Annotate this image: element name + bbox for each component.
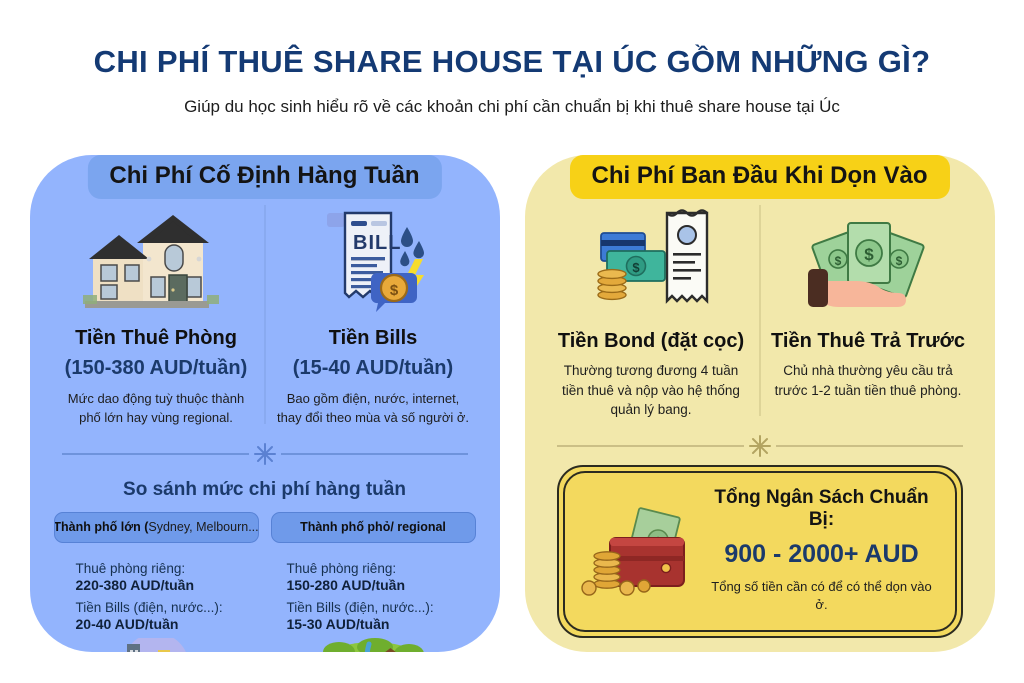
wallet-coins-icon-wrap: $ [575, 504, 707, 596]
compare-section-title: So sánh mức chi phí hàng tuần [48, 479, 482, 501]
bill-receipt-icon: BILL $ [275, 201, 472, 313]
left-item-bills: BILL $ [265, 201, 482, 428]
compare-col-big-city: Thuê phòng riêng: 220-380 AUD/tuần Tiền … [54, 554, 265, 632]
svg-text:$: $ [864, 245, 874, 264]
left-item-rent: Tiền Thuê Phòng (150-380 AUD/tuần) Mức d… [48, 201, 265, 428]
city-skyline-icon [96, 638, 216, 652]
right-sparkle-divider [557, 433, 963, 459]
left-item-bills-desc: Bao gồm điện, nước, internet, thay đổi t… [275, 390, 472, 428]
divider-line-left [557, 445, 744, 447]
budget-title: Tổng Ngân Sách Chuẩn Bị: [707, 487, 937, 531]
panel-left-body: Tiền Thuê Phòng (150-380 AUD/tuần) Mức d… [30, 155, 500, 652]
panel-left-badge: Chi Phí Cố Định Hàng Tuần [87, 155, 441, 199]
hand-cash-icon: $ $ $ [770, 201, 967, 313]
svg-text:$: $ [390, 282, 399, 299]
compare-col-regional: Thuê phòng riêng: 150-280 AUD/tuần Tiền … [265, 554, 476, 632]
pill-regional-bold: Thành phố phỏ/ regional [300, 520, 446, 534]
left-item-rent-price: (150-380 AUD/tuần) [58, 357, 255, 380]
panel-right-body: $ Tiền Bond (đặt cọc) Thường tương đương… [525, 155, 995, 652]
right-item-bond-desc: Thường tương đương 4 tuần tiền thuê và n… [553, 361, 750, 420]
rural-village-icon-wrap [265, 638, 482, 652]
panel-weekly-fixed-costs: Chi Phí Cố Định Hàng Tuần [30, 155, 500, 652]
cmp-value: 15-30 AUD/tuần [287, 616, 476, 632]
left-item-rent-title: Tiền Thuê Phòng [58, 326, 255, 350]
cmp-label: Thuê phòng riêng: [287, 561, 476, 576]
left-item-bills-title: Tiền Bills [275, 326, 472, 350]
pill-big-city-bold: Thành phố lớn ( [54, 520, 149, 534]
divider-line-right [776, 445, 963, 447]
sparkle-icon [747, 433, 773, 459]
pill-big-city[interactable]: Thành phố lớn (Sydney, Melbourn... [54, 512, 259, 543]
svg-text:BILL: BILL [353, 232, 401, 254]
cmp-label: Thuê phòng riêng: [76, 561, 265, 576]
left-item-rent-desc: Mức dao động tuỳ thuộc thành phố lớn hay… [58, 390, 255, 428]
city-skyline-icon-wrap [48, 638, 265, 652]
left-item-bills-price: (15-40 AUD/tuần) [275, 357, 472, 380]
budget-box-inner: $ [563, 471, 957, 632]
svg-text:$: $ [835, 254, 842, 268]
left-sparkle-divider [62, 441, 468, 467]
budget-note: Tổng số tiền cần có để có thể dọn vào ở. [707, 578, 937, 614]
cmp-value: 20-40 AUD/tuần [76, 616, 265, 632]
right-item-bond-title: Tiền Bond (đặt cọc) [553, 329, 750, 353]
svg-text:$: $ [632, 260, 640, 275]
right-item-bond: $ Tiền Bond (đặt cọc) Thường tương đương… [543, 201, 760, 420]
cmp-value: 220-380 AUD/tuần [76, 577, 265, 593]
budget-box: $ [557, 465, 963, 638]
cash-card-receipt-icon: $ [553, 201, 750, 313]
wallet-coins-icon: $ [580, 504, 702, 596]
panel-initial-move-in-costs: Chi Phí Ban Đầu Khi Dọn Vào [525, 155, 995, 652]
compare-values-row: Thuê phòng riêng: 220-380 AUD/tuần Tiền … [48, 554, 482, 632]
svg-text:$: $ [896, 254, 903, 268]
pill-regional[interactable]: Thành phố phỏ/ regional [271, 512, 476, 543]
right-vertical-divider [759, 205, 760, 416]
page-header: CHI PHÍ THUÊ SHARE HOUSE TẠI ÚC GỒM NHỮN… [0, 0, 1024, 117]
panel-right-badge: Chi Phí Ban Đầu Khi Dọn Vào [569, 155, 949, 199]
divider-line-left [62, 453, 249, 455]
page-subtitle: Giúp du học sinh hiểu rõ về các khoản ch… [0, 97, 1024, 117]
right-item-advance-rent: $ $ $ Tiền Thuê Trả Trước Chủ nhà thường… [760, 201, 977, 420]
left-vertical-divider [264, 205, 265, 424]
left-items-row: Tiền Thuê Phòng (150-380 AUD/tuần) Mức d… [48, 201, 482, 428]
cmp-label: Tiền Bills (điện, nước...): [287, 600, 476, 615]
budget-text-block: Tổng Ngân Sách Chuẩn Bị: 900 - 2000+ AUD… [707, 487, 945, 614]
right-item-advance-rent-title: Tiền Thuê Trả Trước [770, 329, 967, 353]
house-icon [58, 201, 255, 313]
compare-pills-row: Thành phố lớn (Sydney, Melbourn... Thành… [48, 512, 482, 543]
pill-big-city-rest: Sydney, Melbourn... [148, 520, 258, 534]
right-item-advance-rent-desc: Chủ nhà thường yêu cầu trả trước 1-2 tuầ… [770, 361, 967, 400]
compare-illustrations-row [48, 638, 482, 652]
panels-container: Chi Phí Cố Định Hàng Tuần [0, 155, 1024, 652]
rural-village-icon [313, 638, 433, 652]
cmp-value: 150-280 AUD/tuần [287, 577, 476, 593]
sparkle-icon [252, 441, 278, 467]
budget-amount: 900 - 2000+ AUD [707, 540, 937, 569]
cmp-label: Tiền Bills (điện, nước...): [76, 600, 265, 615]
divider-line-right [281, 453, 468, 455]
page-title: CHI PHÍ THUÊ SHARE HOUSE TẠI ÚC GỒM NHỮN… [0, 44, 1024, 80]
right-items-row: $ Tiền Bond (đặt cọc) Thường tương đương… [543, 201, 977, 420]
